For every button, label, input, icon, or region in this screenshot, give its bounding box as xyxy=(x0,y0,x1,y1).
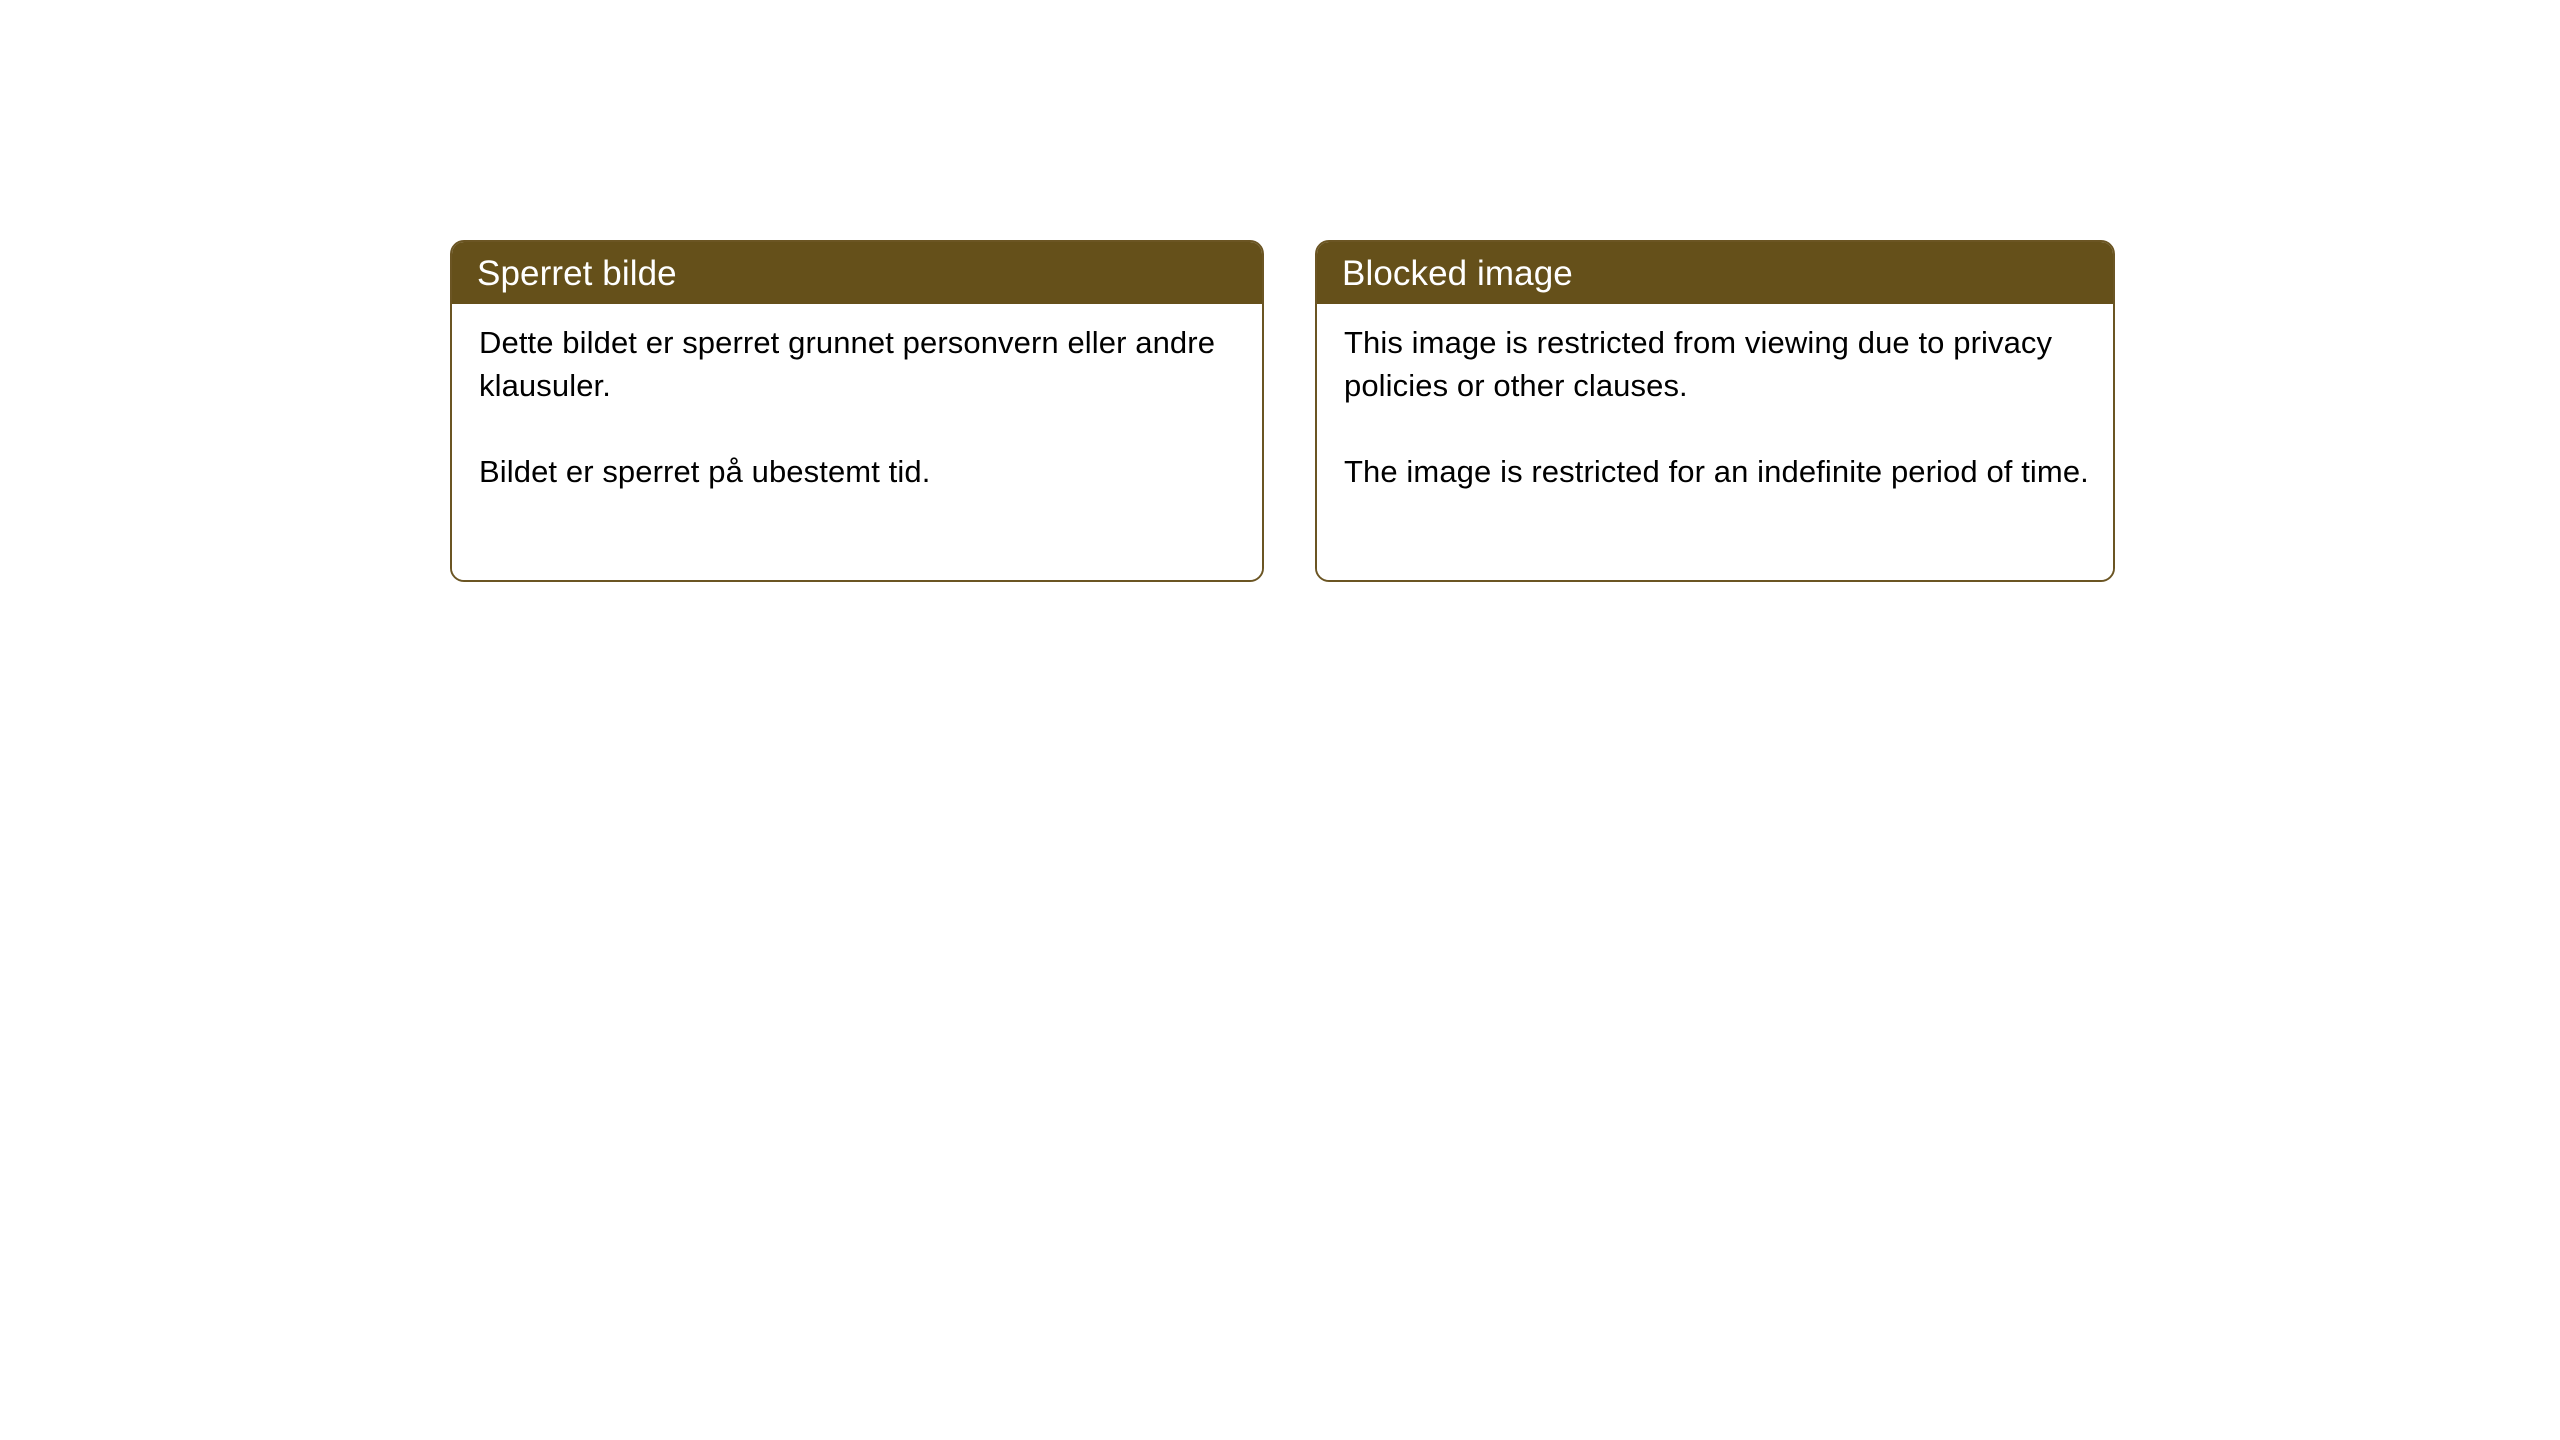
card-header-english: Blocked image xyxy=(1317,242,2113,304)
card-title-norwegian: Sperret bilde xyxy=(477,256,677,291)
blocked-image-card-norwegian: Sperret bilde Dette bildet er sperret gr… xyxy=(450,240,1264,582)
card-body-english: This image is restricted from viewing du… xyxy=(1317,304,2113,580)
card-paragraph-primary-norwegian: Dette bildet er sperret grunnet personve… xyxy=(479,321,1238,407)
card-paragraph-primary-english: This image is restricted from viewing du… xyxy=(1344,321,2089,407)
card-header-norwegian: Sperret bilde xyxy=(452,242,1262,304)
card-paragraph-secondary-english: The image is restricted for an indefinit… xyxy=(1344,450,2089,493)
card-body-norwegian: Dette bildet er sperret grunnet personve… xyxy=(452,304,1262,580)
card-title-english: Blocked image xyxy=(1342,256,1573,291)
blocked-image-card-english: Blocked image This image is restricted f… xyxy=(1315,240,2115,582)
card-paragraph-secondary-norwegian: Bildet er sperret på ubestemt tid. xyxy=(479,450,1238,493)
blocked-image-notice-group: Sperret bilde Dette bildet er sperret gr… xyxy=(450,240,2115,582)
